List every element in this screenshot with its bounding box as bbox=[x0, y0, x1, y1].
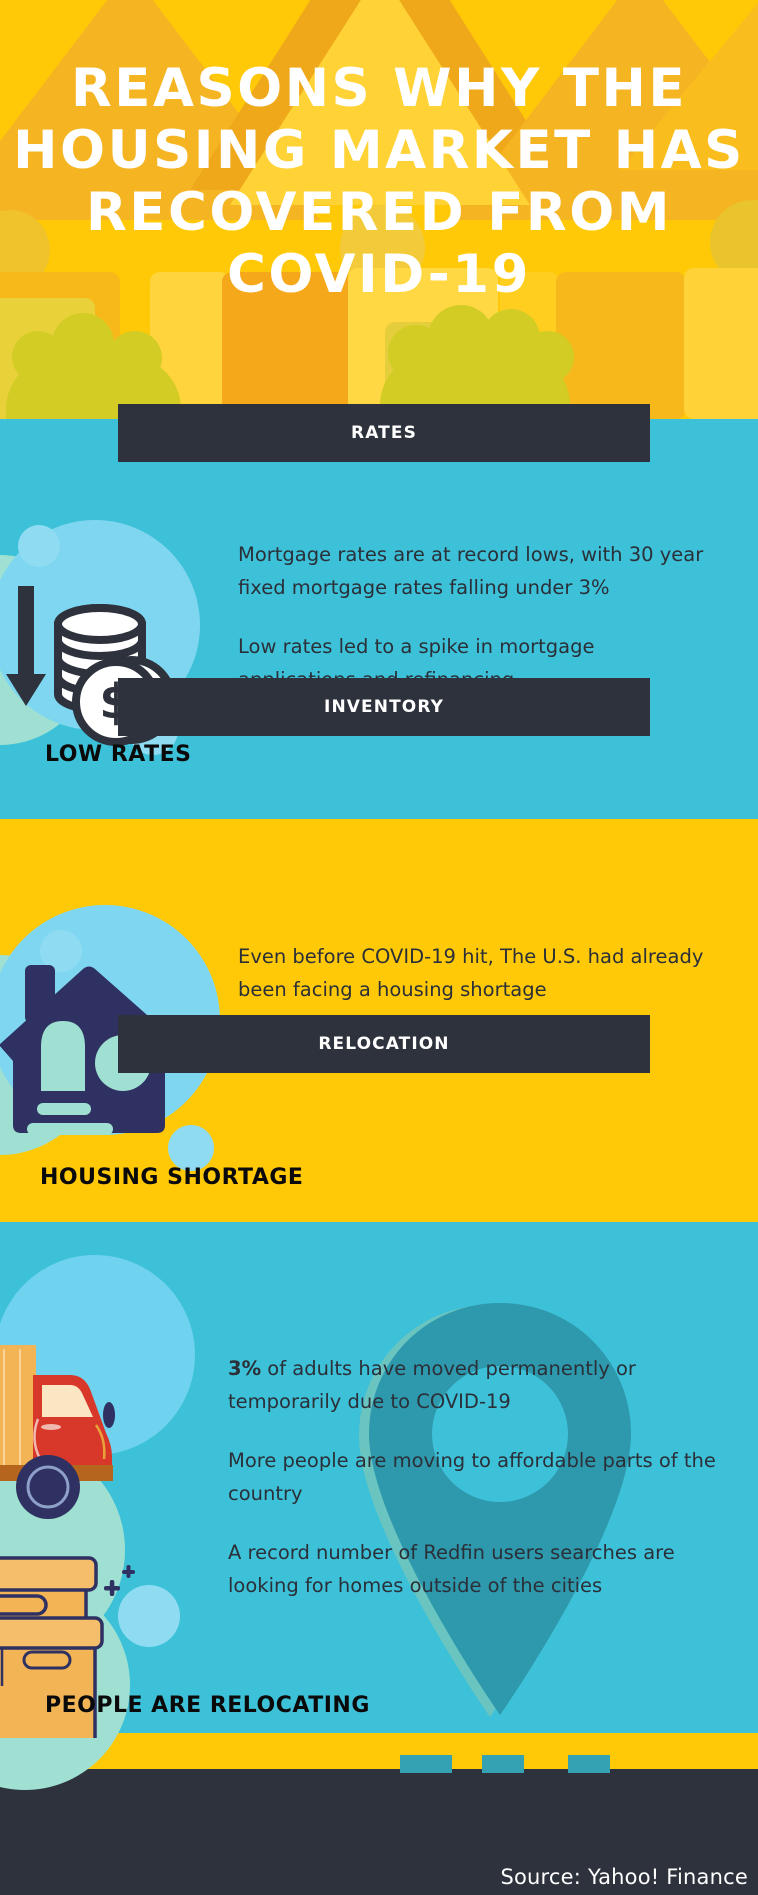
paragraph-rest: of adults have moved permanently or temp… bbox=[228, 1357, 636, 1413]
section-body-rates: Mortgage rates are at record lows, with … bbox=[238, 538, 718, 696]
paragraph: Even before COVID-19 hit, The U.S. had a… bbox=[238, 940, 718, 1006]
section-bar-relocation[interactable]: RELOCATION bbox=[118, 1015, 650, 1073]
road-dash bbox=[568, 1755, 610, 1773]
icon-caption-low-rates: LOW RATES bbox=[45, 742, 192, 767]
section-bar-rates[interactable]: RATES bbox=[118, 404, 650, 462]
section-body-relocation: 3% of adults have moved permanently or t… bbox=[228, 1352, 728, 1602]
icon-caption-housing-shortage: HOUSING SHORTAGE bbox=[40, 1165, 303, 1190]
paragraph: Mortgage rates are at record lows, with … bbox=[238, 538, 718, 604]
header-banner: REASONS WHY THE HOUSING MARKET HAS RECOV… bbox=[0, 0, 758, 419]
highlight-value: 3% bbox=[228, 1357, 261, 1380]
paragraph: More people are moving to affordable par… bbox=[228, 1444, 728, 1510]
section-bar-inventory[interactable]: INVENTORY bbox=[118, 678, 650, 736]
section-bar-label: RATES bbox=[351, 423, 417, 443]
paragraph: 3% of adults have moved permanently or t… bbox=[228, 1352, 728, 1418]
section-bar-label: RELOCATION bbox=[318, 1034, 449, 1054]
icon-caption-people-relocating: PEOPLE ARE RELOCATING bbox=[45, 1693, 370, 1718]
page-title: REASONS WHY THE HOUSING MARKET HAS RECOV… bbox=[0, 58, 758, 306]
source-attribution: Source: Yahoo! Finance bbox=[500, 1865, 748, 1889]
moving-truck-icon bbox=[0, 1335, 158, 1545]
road-dash bbox=[482, 1755, 524, 1773]
infographic-page: REASONS WHY THE HOUSING MARKET HAS RECOV… bbox=[0, 0, 758, 1895]
paragraph: A record number of Redfin users searches… bbox=[228, 1536, 728, 1602]
section-bar-label: INVENTORY bbox=[324, 697, 444, 717]
blob-small-light-blue bbox=[18, 525, 60, 567]
road-dash bbox=[400, 1755, 452, 1773]
